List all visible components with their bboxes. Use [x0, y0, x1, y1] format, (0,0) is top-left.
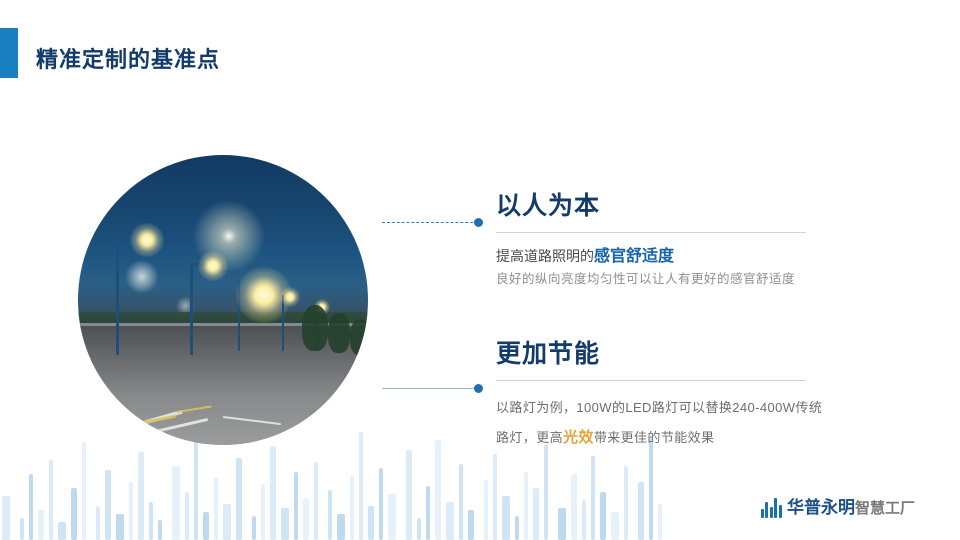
decorative-bar — [544, 444, 548, 540]
decorative-bar — [149, 502, 153, 540]
decorative-bar — [20, 518, 24, 540]
decorative-bar — [270, 446, 276, 540]
feature-body-2-part2: 路灯，更高 — [496, 430, 563, 445]
decorative-bar — [350, 476, 354, 540]
decorative-bar — [328, 490, 332, 540]
feature-divider-1 — [496, 232, 806, 233]
decorative-bar — [484, 480, 488, 540]
decorative-bar — [368, 506, 374, 540]
decorative-bar — [426, 486, 430, 540]
decorative-bar — [82, 442, 86, 540]
connector-line-bottom — [382, 388, 478, 389]
decorative-bar — [236, 458, 242, 540]
feature-heading-2: 更加节能 — [496, 334, 896, 370]
feature-line-1: 提高道路照明的感官舒适度 — [496, 245, 806, 268]
decorative-bar — [600, 492, 606, 540]
decorative-bar — [158, 520, 162, 540]
decorative-bar — [379, 468, 383, 540]
decorative-bar — [261, 484, 265, 540]
decorative-bar — [524, 472, 528, 540]
feature-block-human-centric: 以人为本 提高道路照明的感官舒适度 良好的纵向亮度均匀性可以让人有更好的感官舒适… — [496, 186, 806, 290]
decorative-bar — [658, 504, 662, 540]
decorative-bar — [71, 488, 77, 540]
decorative-bar — [638, 482, 644, 540]
feature-body-2: 以路灯为例，100W的LED路灯可以替换240-400W传统 路灯，更高光效带来… — [496, 393, 896, 453]
decorative-bar — [337, 514, 345, 540]
decorative-bar — [303, 498, 309, 540]
night-street-led-lighting-photo — [78, 155, 368, 445]
logo-text: 华普永明智慧工厂 — [787, 493, 915, 518]
decorative-bar — [281, 508, 289, 540]
feature-body-2-part3: 带来更佳的节能效果 — [594, 430, 715, 445]
decorative-bar — [129, 482, 133, 540]
logo-brand: 华普永明 — [787, 498, 855, 517]
decorative-bar — [2, 496, 10, 540]
decorative-bar — [203, 512, 209, 540]
feature-block-energy-saving: 更加节能 以路灯为例，100W的LED路灯可以替换240-400W传统 路灯，更… — [496, 334, 896, 453]
company-logo: 华普永明智慧工厂 — [761, 493, 915, 518]
connector-dot-bottom — [474, 384, 483, 393]
decorative-bar — [388, 494, 396, 540]
feature-body-2-part1: 以路灯为例，100W的LED路灯可以替换240-400W传统 — [496, 400, 822, 415]
decorative-bar — [515, 516, 519, 540]
decorative-bar — [214, 478, 218, 540]
feature-line-2: 良好的纵向亮度均匀性可以让人有更好的感官舒适度 — [496, 268, 806, 290]
decorative-bar — [172, 466, 180, 540]
page-title: 精准定制的基准点 — [36, 42, 220, 74]
decorative-bar — [138, 452, 144, 540]
decorative-bar — [252, 516, 256, 540]
decorative-bar — [649, 438, 653, 540]
logo-sub: 智慧工厂 — [855, 500, 915, 517]
decorative-bar — [49, 460, 53, 540]
decorative-bar — [406, 450, 412, 540]
decorative-bar — [533, 488, 539, 540]
decorative-bar — [29, 474, 33, 540]
logo-bars-icon — [761, 496, 782, 518]
decorative-bar — [435, 440, 441, 540]
feature-line-1-highlight: 感官舒适度 — [594, 248, 674, 265]
decorative-bar — [194, 436, 198, 540]
decorative-bar — [468, 510, 474, 540]
decorative-bar — [417, 518, 421, 540]
decorative-bar — [96, 506, 100, 540]
title-accent-bar — [0, 28, 18, 78]
decorative-bar — [58, 522, 66, 540]
decorative-bar — [571, 474, 577, 540]
decorative-bar — [493, 454, 497, 540]
decorative-bar — [314, 462, 318, 540]
decorative-bar — [116, 514, 124, 540]
connector-dot-top — [474, 218, 483, 227]
feature-heading-1: 以人为本 — [496, 186, 806, 222]
decorative-bar — [105, 470, 111, 540]
decorative-bar — [185, 492, 189, 540]
decorative-bar — [558, 508, 566, 540]
decorative-bar — [459, 464, 463, 540]
decorative-bar — [38, 510, 44, 540]
decorative-bar — [591, 456, 595, 540]
decorative-bar — [502, 496, 510, 540]
feature-line-1-prefix: 提高道路照明的 — [496, 248, 594, 264]
decorative-bar — [359, 432, 363, 540]
slide-root: 精准定制的基准点 — [0, 0, 960, 540]
decorative-bar — [611, 512, 619, 540]
decorative-bar — [446, 502, 454, 540]
decorative-bar — [223, 504, 231, 540]
decorative-bar — [624, 466, 628, 540]
decorative-bar — [294, 472, 298, 540]
decorative-bar — [582, 500, 586, 540]
feature-body-2-highlight: 光效 — [563, 429, 594, 446]
feature-divider-2 — [496, 380, 806, 381]
connector-line-top — [382, 222, 478, 223]
